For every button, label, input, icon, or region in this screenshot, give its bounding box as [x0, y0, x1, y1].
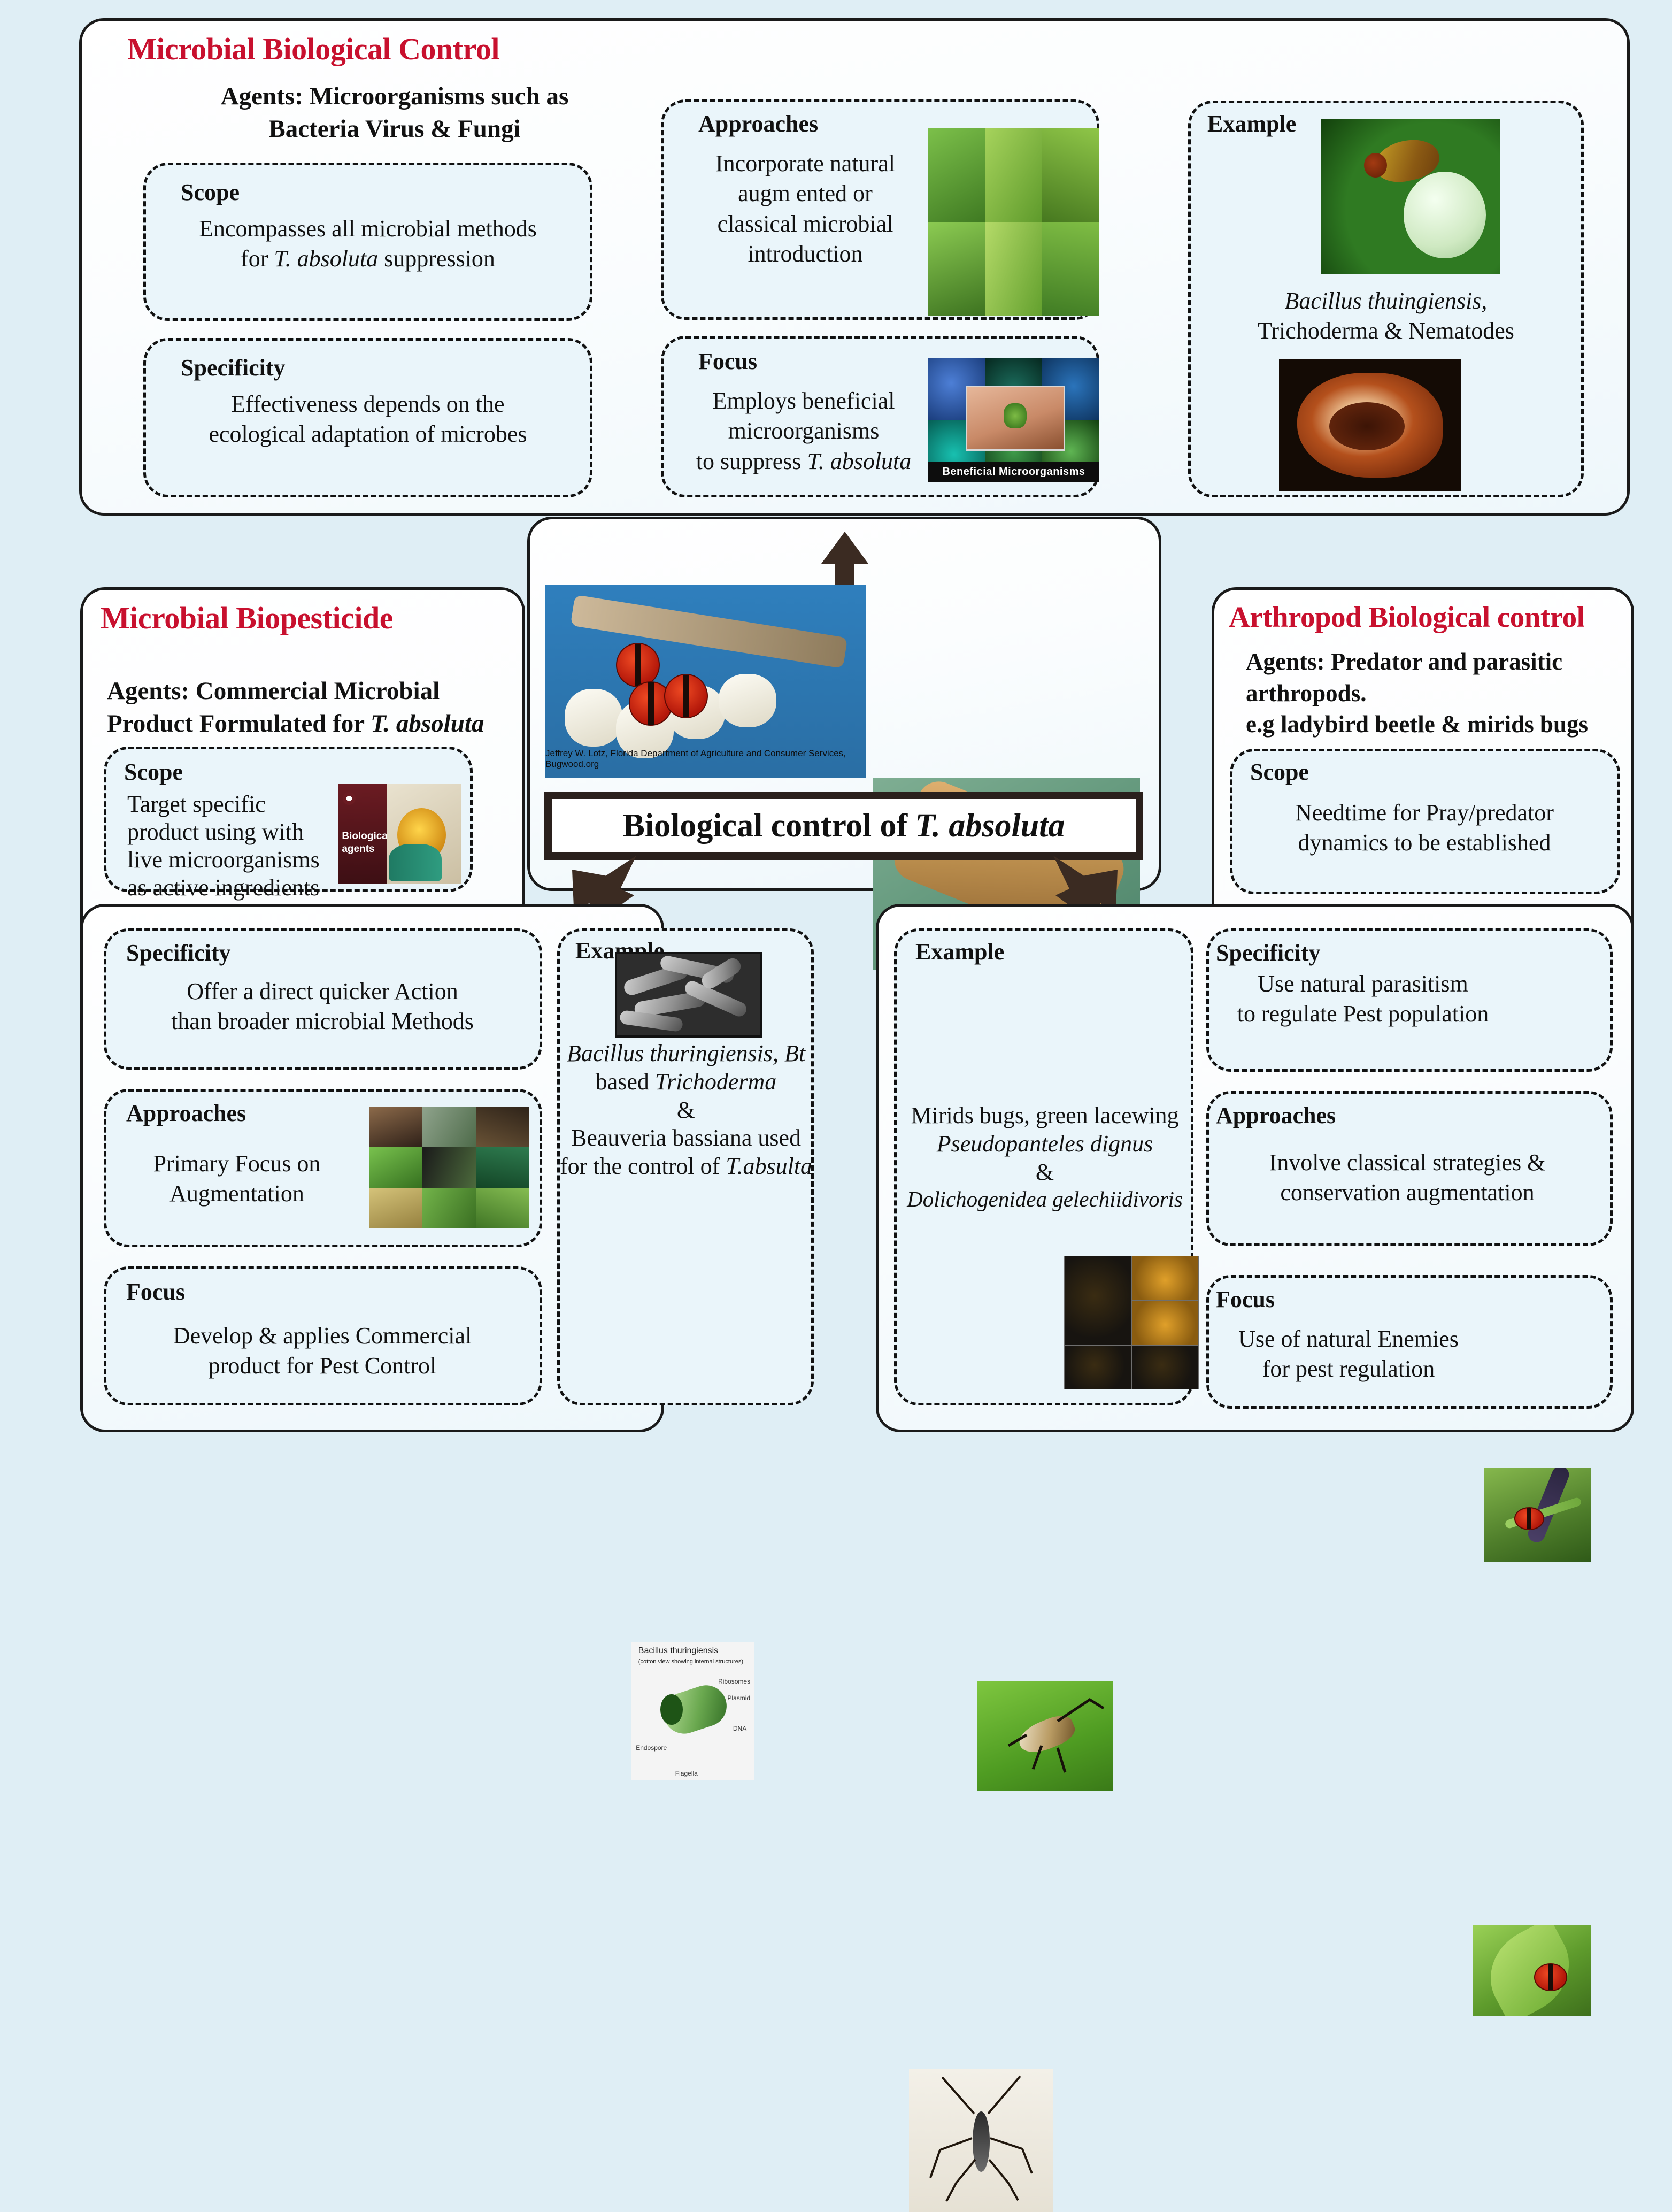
- focus-mbc-pre: to suppress: [696, 448, 807, 474]
- parasitoid-wasp-on-egg-image: [1321, 119, 1500, 274]
- panel-title-arthropod-biological-control: Arthropod Biological control: [1229, 600, 1584, 634]
- spec-arth-line1: Use natural parasitism: [1211, 969, 1515, 999]
- box-text-focus-mbc: Employs beneficial microorganisms to sup…: [667, 386, 940, 477]
- mirid-bug-on-leaf-image: [977, 1681, 1113, 1791]
- twig-shape: [571, 595, 848, 669]
- scope-mbc-pre: for: [241, 245, 274, 272]
- caterpillar-leaf-collage-image: [928, 128, 1099, 316]
- scope-mbc-line1: Encompasses all microbial methods: [154, 214, 582, 244]
- bt-label-endospore: Endospore: [636, 1744, 667, 1752]
- box-text-approaches-mbc: Incorporate natural augm ented or classi…: [672, 149, 939, 269]
- bacillus-thuringiensis-diagram-image: Bacillus thuringiensis (cotton view show…: [631, 1642, 754, 1780]
- ladybird-beetle-3: [664, 674, 708, 718]
- spec-mbc-line1: Effectiveness depends on the: [154, 389, 582, 419]
- spec-mbc-line2: ecological adaptation of microbes: [154, 419, 582, 449]
- agents-arth-line1: Agents: Predator and parasitic: [1246, 646, 1642, 678]
- product-logo-icon: [343, 792, 356, 805]
- bacillus-sem-image: [615, 952, 762, 1038]
- box-label-specificity-arthropod: Specificity: [1216, 939, 1321, 966]
- focus-mbc-species: T. absoluta: [807, 448, 912, 474]
- ex-bp-line2-species: Trichoderma: [655, 1069, 776, 1095]
- wasp-morphology-plate-image: [1064, 1256, 1199, 1389]
- example-mbc-line2: Trichoderma & Nematodes: [1199, 316, 1573, 346]
- spec-arth-line2: to regulate Pest population: [1211, 999, 1515, 1029]
- bt-label-dna: DNA: [733, 1725, 746, 1732]
- center-title-species: T. absoluta: [915, 807, 1065, 845]
- box-text-example-mbc: Bacillus thuingiensis, Trichoderma & Nem…: [1199, 286, 1573, 347]
- agents-line-1: Agents: Microorganisms such as: [213, 80, 576, 113]
- product-label-line1: Biological: [342, 830, 390, 843]
- product-label-text: Biological agents: [342, 830, 390, 856]
- box-label-approaches-arthropod: Approaches: [1216, 1102, 1336, 1129]
- box-label-approaches-biopesticide: Approaches: [126, 1100, 246, 1127]
- mirid-antennae-icon: [977, 1681, 1113, 1791]
- box-text-approaches-arthropod: Involve classical strategies & conservat…: [1209, 1148, 1605, 1208]
- mealybug-1: [565, 689, 622, 747]
- spec-bp-line2: than broader microbial Methods: [111, 1007, 534, 1036]
- box-label-scope-biopesticide: Scope: [124, 758, 183, 786]
- beneficial-microorganisms-image: Beneficial Microorganisms: [928, 358, 1099, 482]
- box-label-focus-mbc: Focus: [698, 348, 757, 375]
- appr-mbc-line4: introduction: [672, 239, 939, 269]
- biological-agents-product-image: Biological agents: [338, 784, 461, 884]
- focus-arth-line1: Use of natural Enemies: [1209, 1324, 1488, 1354]
- focus-bp-line1: Develop & applies Commercial: [111, 1321, 534, 1351]
- box-label-specificity-mbc: Specificity: [181, 354, 286, 381]
- box-text-example-arthropod: Mirids bugs, green lacewing Pseudopantel…: [896, 1102, 1193, 1213]
- panel-title-microbial-biological-control: Microbial Biological Control: [127, 31, 499, 67]
- larvae-collage-image: [369, 1107, 529, 1228]
- agents-arth-line2: arthropods.: [1246, 678, 1642, 709]
- agents-biopest-line1: Agents: Commercial Microbial: [107, 675, 513, 708]
- ex-arth-line2: Pseudopanteles dignus: [896, 1130, 1193, 1158]
- wasp-legs-antennae-icon: [909, 2069, 1053, 2212]
- focus-bp-line2: product for Pest Control: [111, 1351, 534, 1381]
- ex-bp-line5-species: T.absulta: [726, 1153, 812, 1179]
- box-text-scope-mbc: Encompasses all microbial methods for T.…: [154, 214, 582, 274]
- center-title-main: Biological control of: [623, 807, 908, 845]
- agents-text-arthropod: Agents: Predator and parasitic arthropod…: [1246, 646, 1642, 740]
- nematode-larva-shape: [1297, 373, 1443, 478]
- ladybird-on-aphid-colony-image: [1484, 1468, 1591, 1562]
- scope-mbc-line2: for T. absoluta suppression: [154, 244, 582, 274]
- insect-egg-shape: [1404, 172, 1486, 258]
- product-label-panel: Biological agents: [338, 784, 387, 884]
- agents-line-2: Bacteria Virus & Fungi: [213, 113, 576, 145]
- ladybird-beetle: [1514, 1507, 1544, 1530]
- appr-mbc-line2: augm ented or: [672, 179, 939, 209]
- ex-bp-line5: for the control of T.absulta: [559, 1153, 813, 1181]
- panel-title-microbial-biopesticide: Microbial Biopesticide: [101, 600, 393, 636]
- box-label-focus-arthropod: Focus: [1216, 1286, 1275, 1313]
- box-text-approaches-biopesticide: Primary Focus on Augmentation: [111, 1149, 363, 1209]
- box-label-approaches-mbc: Approaches: [698, 110, 818, 137]
- mealybug-4: [719, 674, 776, 728]
- gloved-hand-shape: [389, 844, 442, 882]
- appr-arth-line2: conservation augmentation: [1209, 1178, 1605, 1208]
- bt-diagram-title: Bacillus thuringiensis: [638, 1646, 718, 1656]
- agents-biopest-species: T. absoluta: [371, 710, 484, 738]
- scope-mbc-species: T. absoluta: [274, 245, 378, 272]
- box-label-specificity-biopesticide: Specificity: [126, 939, 231, 966]
- appr-mbc-line1: Incorporate natural: [672, 149, 939, 179]
- box-text-example-biopesticide: Bacillus thuringiensis, Bt based Trichod…: [559, 1040, 813, 1181]
- ex-bp-line5-pre: for the control of: [560, 1153, 726, 1179]
- ladybird-beetle-1: [616, 643, 660, 687]
- focus-mbc-line1: Employs beneficial: [667, 386, 940, 416]
- agents-biopest-pre: Product Formulated for: [107, 710, 371, 738]
- product-photo-panel: [387, 784, 461, 884]
- spec-bp-line1: Offer a direct quicker Action: [111, 977, 534, 1007]
- ladybird-beetle-leaf: [1534, 1963, 1567, 1991]
- seedling-in-hand-overlay: [966, 386, 1065, 451]
- ex-bp-line2-pre: based: [596, 1069, 655, 1095]
- agents-text-microbial-biological-control: Agents: Microorganisms such as Bacteria …: [213, 80, 576, 145]
- bt-diagram-subtitle: (cotton view showing internal structures…: [638, 1658, 743, 1665]
- appr-mbc-line3: classical microbial: [672, 209, 939, 239]
- ex-arth-line4: Dolichogenidea gelechiidivoris: [896, 1186, 1193, 1212]
- wasp-head-shape: [1364, 153, 1388, 178]
- box-label-focus-biopesticide: Focus: [126, 1278, 185, 1305]
- product-label-line2: agents: [342, 843, 390, 856]
- focus-mbc-line3: to suppress T. absoluta: [667, 447, 940, 477]
- ex-bp-line1: Bacillus thuringiensis, Bt: [559, 1040, 813, 1068]
- ex-bp-line3: &: [559, 1096, 813, 1125]
- box-text-scope-arthropod: Needtime for Pray/predator dynamics to b…: [1237, 798, 1612, 858]
- agents-text-microbial-biopesticide: Agents: Commercial Microbial Product For…: [107, 675, 513, 740]
- scope-mbc-post: suppression: [378, 245, 495, 272]
- example-mbc-species: Bacillus thuingiensis,: [1199, 286, 1573, 316]
- box-label-example-mbc: Example: [1207, 110, 1296, 137]
- appr-bp-line1: Primary Focus on: [111, 1149, 363, 1179]
- scope-bp-line2: product using with: [127, 818, 336, 846]
- box-text-scope-biopesticide: Target specific product using with live …: [127, 790, 336, 902]
- bt-label-plasmid: Plasmid: [727, 1694, 750, 1702]
- scope-bp-line1: Target specific: [127, 790, 336, 818]
- scope-arth-line1: Needtime for Pray/predator: [1237, 798, 1612, 828]
- box-text-focus-arthropod: Use of natural Enemies for pest regulati…: [1209, 1324, 1488, 1385]
- box-label-scope-arthropod: Scope: [1250, 758, 1309, 786]
- photo-credit-ladybird: Jeffrey W. Lotz, Florida Department of A…: [545, 748, 857, 770]
- leaf-blade-shape: [1474, 1925, 1585, 2016]
- focus-mbc-line2: microorganisms: [667, 416, 940, 446]
- ladybird-beetles-on-mealybugs-image: Jeffrey W. Lotz, Florida Department of A…: [545, 585, 866, 778]
- ladybird-on-leaf-image: [1473, 1925, 1591, 2016]
- braconid-wasp-specimen-image: [909, 2069, 1053, 2212]
- focus-arth-line2: for pest regulation: [1209, 1354, 1488, 1384]
- agents-biopest-line2: Product Formulated for T. absoluta: [107, 708, 513, 740]
- bt-label-flagella: Flagella: [675, 1770, 698, 1777]
- appr-arth-line1: Involve classical strategies &: [1209, 1148, 1605, 1178]
- box-text-specificity-arthropod: Use natural parasitism to regulate Pest …: [1211, 969, 1515, 1030]
- scope-arth-line2: dynamics to be established: [1237, 828, 1612, 858]
- box-label-scope-mbc: Scope: [181, 179, 240, 206]
- scope-bp-line3: live microorganisms: [127, 846, 336, 874]
- ex-arth-line1: Mirids bugs, green lacewing: [896, 1102, 1193, 1130]
- bt-label-ribosomes: Ribosomes: [718, 1678, 750, 1685]
- appr-bp-line2: Augmentation: [111, 1179, 363, 1209]
- agents-arth-line3: e.g ladybird beetle & mirids bugs: [1246, 709, 1642, 740]
- ex-bp-line2: based Trichoderma: [559, 1068, 813, 1096]
- nematode-infected-larva-image: [1279, 359, 1461, 491]
- ex-bp-line4: Beauveria bassiana used: [559, 1124, 813, 1153]
- box-text-specificity-mbc: Effectiveness depends on the ecological …: [154, 389, 582, 450]
- box-label-example-arthropod: Example: [915, 938, 1004, 965]
- box-text-focus-biopesticide: Develop & applies Commercial product for…: [111, 1321, 534, 1381]
- scope-bp-line4: as active ingredients: [127, 874, 336, 902]
- bt-endospore-shape: [660, 1694, 682, 1725]
- ex-arth-line3: &: [896, 1158, 1193, 1187]
- box-text-specificity-biopesticide: Offer a direct quicker Action than broad…: [111, 977, 534, 1037]
- beneficial-microorganisms-caption: Beneficial Microorganisms: [928, 462, 1099, 482]
